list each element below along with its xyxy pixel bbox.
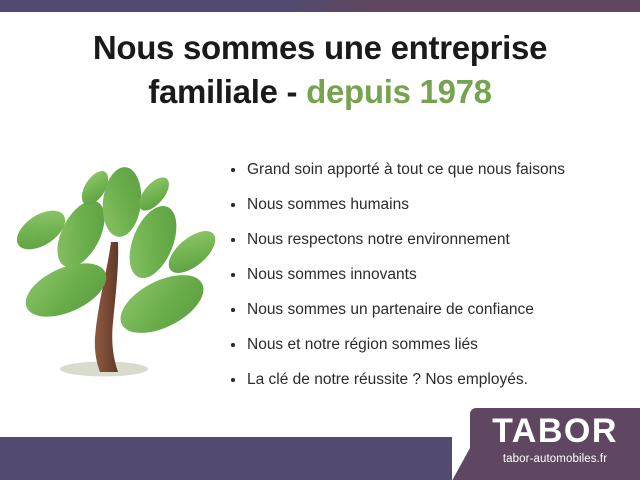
- brand-logo[interactable]: TABOR tabor-automobiles.fr: [470, 408, 640, 480]
- logo-tagline: tabor-automobiles.fr: [470, 454, 640, 466]
- list-item: Nous sommes humains: [228, 187, 628, 222]
- benefits-list: Grand soin apporté à tout ce que nous fa…: [228, 152, 628, 397]
- bullet-dot-icon: [231, 238, 235, 242]
- list-item-label: Nous respectons notre environnement: [247, 231, 510, 248]
- list-item: Nous sommes innovants: [228, 257, 628, 292]
- list-item-label: Grand soin apporté à tout ce que nous fa…: [247, 161, 565, 178]
- bullet-dot-icon: [231, 203, 235, 207]
- slide-root: Nous sommes une entreprise familiale - d…: [0, 0, 640, 480]
- list-item: Grand soin apporté à tout ce que nous fa…: [228, 152, 628, 187]
- list-item-label: La clé de notre réussite ? Nos employés.: [247, 371, 528, 388]
- headline-line-2: familiale - depuis 1978: [0, 70, 640, 114]
- list-item-label: Nous sommes un partenaire de confiance: [247, 301, 534, 318]
- headline-line-1: Nous sommes une entreprise: [0, 26, 640, 70]
- tree-leaf: [111, 263, 212, 345]
- list-item: La clé de notre réussite ? Nos employés.: [228, 362, 628, 397]
- top-decorative-band: [0, 0, 640, 12]
- headline-prefix: familiale: [148, 73, 277, 110]
- page-title: Nous sommes une entreprise familiale - d…: [0, 26, 640, 114]
- tree-trunk: [95, 242, 118, 372]
- list-item-label: Nous sommes humains: [247, 196, 409, 213]
- logo-wordmark: TABOR: [470, 414, 640, 448]
- bullet-dot-icon: [231, 308, 235, 312]
- tree-illustration: [12, 152, 227, 387]
- list-item: Nous sommes un partenaire de confiance: [228, 292, 628, 327]
- list-item-label: Nous et notre région sommes liés: [247, 336, 478, 353]
- bullet-dot-icon: [231, 343, 235, 347]
- list-item: Nous et notre région sommes liés: [228, 327, 628, 362]
- headline-accent: depuis 1978: [306, 73, 492, 110]
- headline-dash: -: [287, 73, 298, 110]
- bullet-dot-icon: [231, 168, 235, 172]
- bullet-dot-icon: [231, 378, 235, 382]
- bullet-dot-icon: [231, 273, 235, 277]
- list-item-label: Nous sommes innovants: [247, 266, 417, 283]
- footer-bar-left: [0, 437, 452, 480]
- list-item: Nous respectons notre environnement: [228, 222, 628, 257]
